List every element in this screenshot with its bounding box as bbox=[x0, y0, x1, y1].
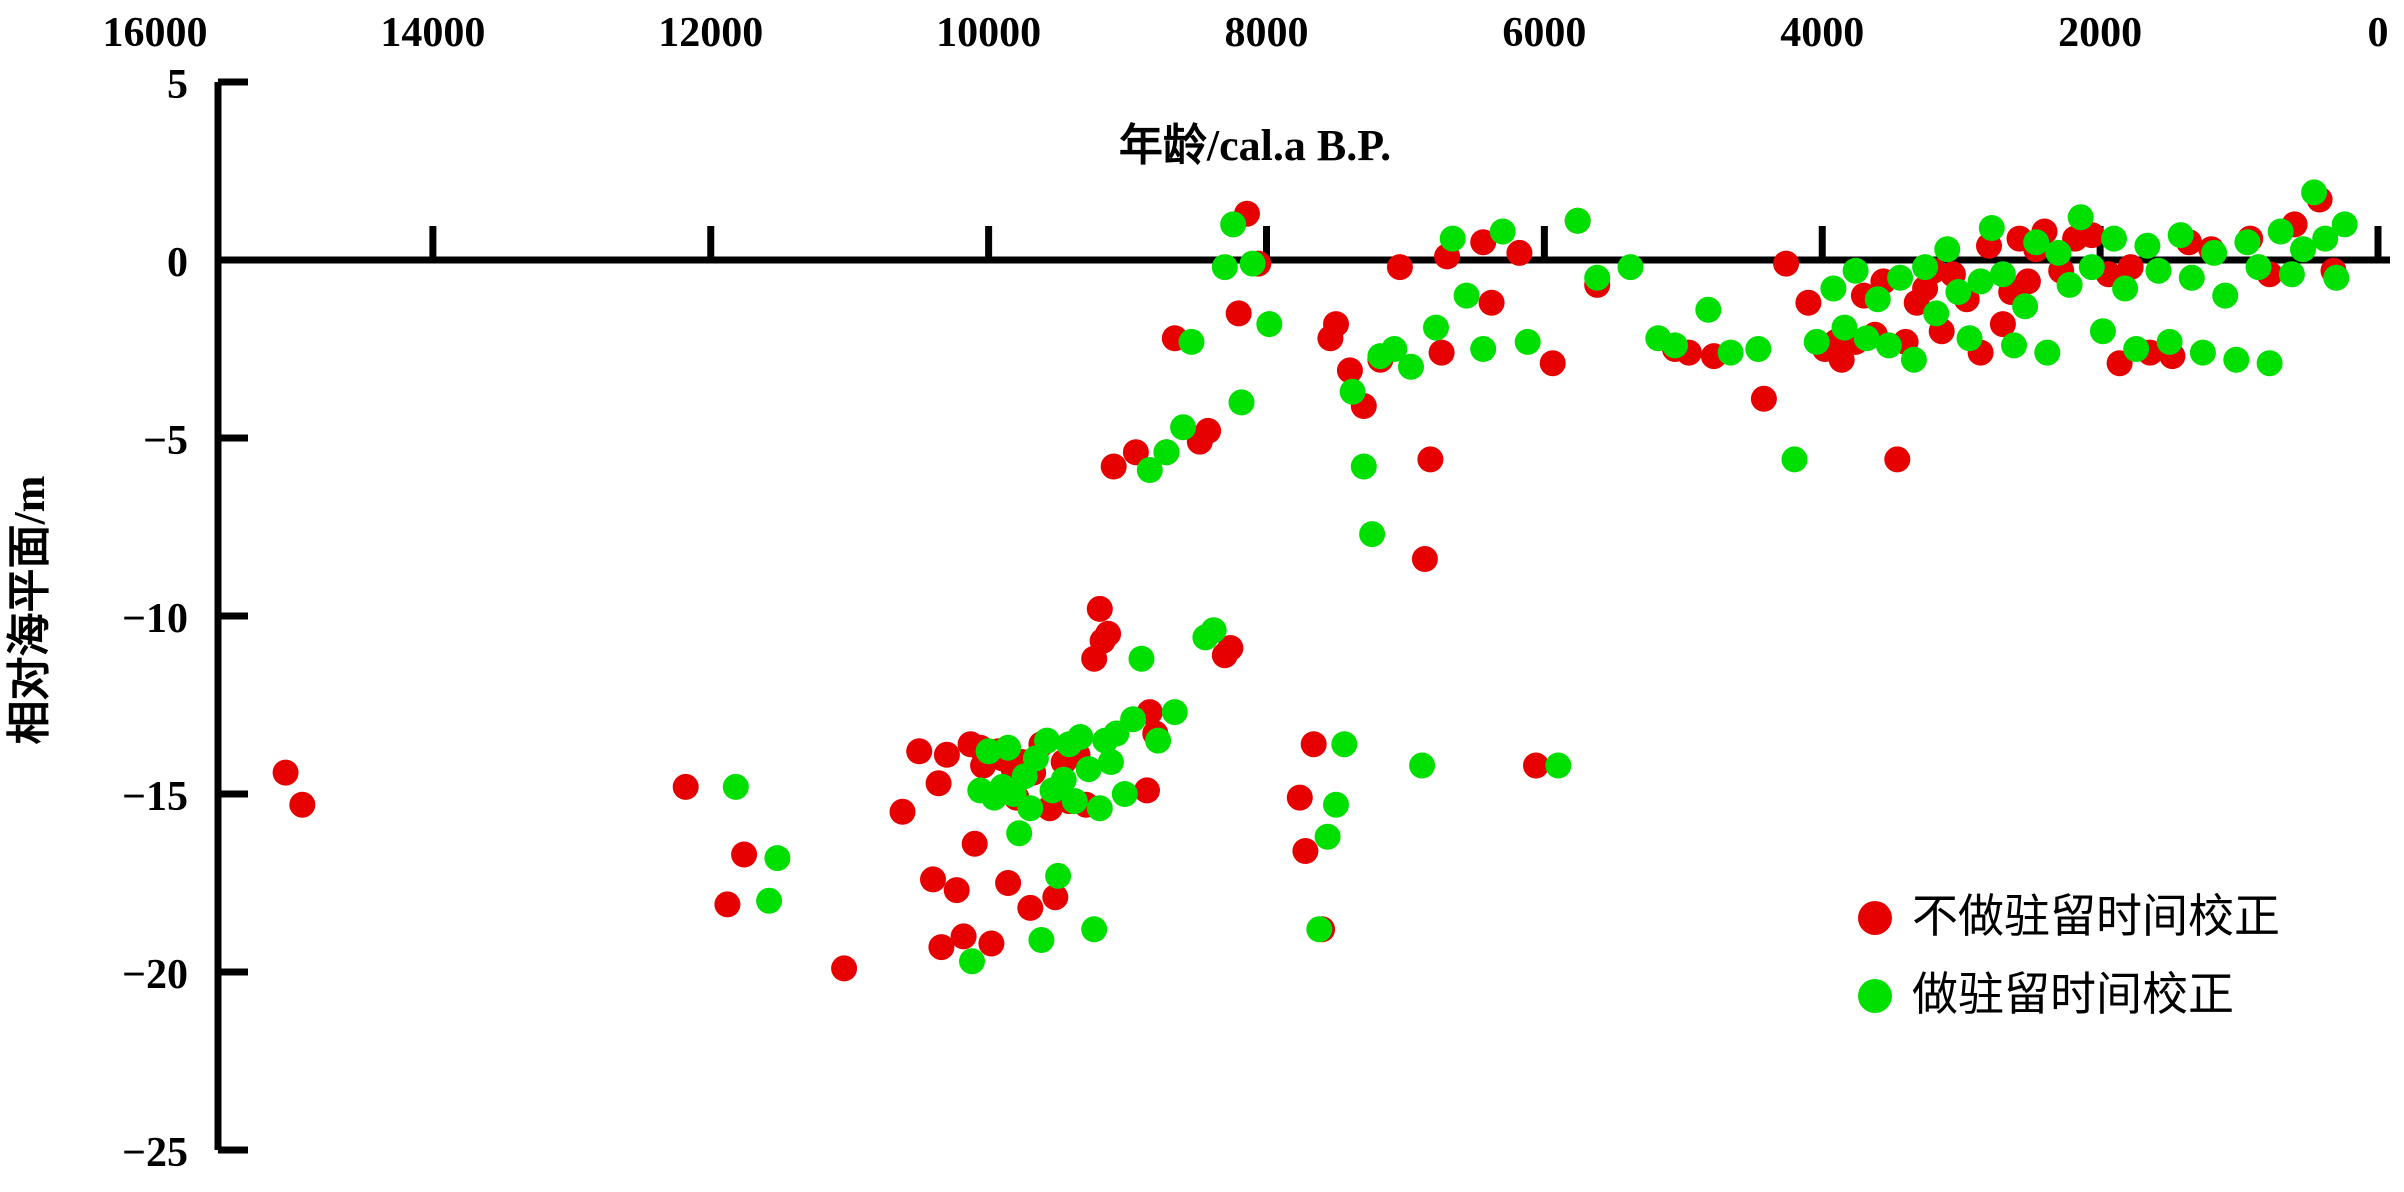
data-point bbox=[2023, 229, 2049, 255]
x-tick-label: 0 bbox=[2368, 10, 2389, 56]
data-point bbox=[731, 842, 757, 868]
chart-root: 1600014000120001000080006000400020000 50… bbox=[0, 0, 2404, 1192]
data-point bbox=[1076, 756, 1102, 782]
data-point bbox=[1887, 265, 1913, 291]
data-point bbox=[1292, 838, 1318, 864]
data-point bbox=[2290, 236, 2316, 262]
data-point bbox=[1120, 706, 1146, 732]
data-point bbox=[2223, 347, 2249, 373]
data-point bbox=[1470, 336, 1496, 362]
data-point bbox=[1843, 258, 1869, 284]
x-tick-label: 10000 bbox=[936, 10, 1041, 56]
data-point bbox=[1523, 753, 1549, 779]
data-point bbox=[2332, 211, 2358, 237]
data-point bbox=[1226, 300, 1252, 326]
y-tick-label: 0 bbox=[167, 240, 188, 286]
data-point bbox=[1901, 347, 1927, 373]
x-tick-label: 14000 bbox=[380, 10, 485, 56]
data-point bbox=[1081, 916, 1107, 942]
data-point bbox=[1006, 820, 1032, 846]
data-point bbox=[1212, 254, 1238, 280]
data-point bbox=[2157, 329, 2183, 355]
data-point bbox=[2179, 265, 2205, 291]
data-point bbox=[764, 845, 790, 871]
data-point bbox=[1490, 219, 1516, 245]
data-point bbox=[2101, 226, 2127, 252]
data-point bbox=[1256, 311, 1282, 337]
data-point bbox=[1417, 446, 1443, 472]
data-point bbox=[289, 792, 315, 818]
data-point bbox=[1979, 215, 2005, 241]
data-point bbox=[1101, 454, 1127, 480]
data-point bbox=[2268, 219, 2294, 245]
data-point bbox=[1301, 731, 1327, 757]
data-point bbox=[1359, 521, 1385, 547]
data-point bbox=[928, 934, 954, 960]
data-point bbox=[1795, 290, 1821, 316]
data-point bbox=[1884, 446, 1910, 472]
data-point bbox=[1618, 254, 1644, 280]
data-point bbox=[1479, 290, 1505, 316]
data-point bbox=[920, 866, 946, 892]
scatter-plot-canvas: 1600014000120001000080006000400020000 50… bbox=[0, 0, 2404, 1192]
data-point bbox=[273, 760, 299, 786]
data-point bbox=[1662, 332, 1688, 358]
data-point bbox=[1540, 350, 1566, 376]
data-point bbox=[831, 955, 857, 981]
x-axis-title: 年龄/cal.a B.P. bbox=[1119, 121, 1391, 170]
data-point bbox=[2257, 350, 2283, 376]
data-point bbox=[1751, 386, 1777, 412]
data-point bbox=[906, 738, 932, 764]
data-point bbox=[2057, 272, 2083, 298]
data-point bbox=[2212, 283, 2238, 309]
data-point bbox=[1162, 699, 1188, 725]
data-point bbox=[978, 931, 1004, 957]
data-point bbox=[1934, 236, 1960, 262]
data-point bbox=[1773, 251, 1799, 277]
data-point bbox=[1331, 731, 1357, 757]
data-point bbox=[1990, 261, 2016, 287]
data-point bbox=[1515, 329, 1541, 355]
data-point bbox=[1129, 646, 1155, 672]
x-tick-label: 12000 bbox=[658, 10, 763, 56]
data-point bbox=[2279, 261, 2305, 287]
data-point bbox=[1095, 621, 1121, 647]
data-point bbox=[2068, 204, 2094, 230]
data-point bbox=[1506, 240, 1532, 266]
data-point bbox=[1067, 724, 1093, 750]
x-tick-label: 16000 bbox=[103, 10, 208, 56]
data-point bbox=[2012, 293, 2038, 319]
legend-marker-1 bbox=[1858, 901, 1892, 935]
data-point bbox=[1832, 315, 1858, 341]
data-point bbox=[1201, 617, 1227, 643]
series-2-points bbox=[723, 179, 2358, 974]
data-point bbox=[1695, 297, 1721, 323]
data-point bbox=[2123, 336, 2149, 362]
data-point bbox=[1854, 325, 1880, 351]
data-point bbox=[1440, 226, 1466, 252]
y-tick-label: −20 bbox=[122, 952, 188, 998]
data-point bbox=[1782, 446, 1808, 472]
data-point bbox=[2034, 340, 2060, 366]
data-point bbox=[1865, 286, 1891, 312]
data-point bbox=[1387, 254, 1413, 280]
data-point bbox=[1087, 596, 1113, 622]
data-point bbox=[1179, 329, 1205, 355]
data-point bbox=[1145, 728, 1171, 754]
data-point bbox=[995, 735, 1021, 761]
data-point bbox=[2134, 233, 2160, 259]
data-point bbox=[1718, 340, 1744, 366]
y-tick-label: −10 bbox=[122, 596, 188, 642]
legend-marker-2 bbox=[1858, 979, 1892, 1013]
data-point bbox=[1409, 753, 1435, 779]
data-point bbox=[756, 888, 782, 914]
data-point bbox=[1170, 414, 1196, 440]
data-point bbox=[926, 770, 952, 796]
data-point bbox=[1820, 276, 1846, 302]
data-point bbox=[1545, 753, 1571, 779]
data-point bbox=[1912, 254, 1938, 280]
data-point bbox=[1034, 728, 1060, 754]
data-point bbox=[2201, 240, 2227, 266]
data-point bbox=[1340, 379, 1366, 405]
data-point bbox=[2090, 318, 2116, 344]
y-tick-label: −15 bbox=[122, 774, 188, 820]
data-point bbox=[1087, 795, 1113, 821]
data-point bbox=[1306, 916, 1332, 942]
x-tick-label: 8000 bbox=[1225, 10, 1309, 56]
y-tick-label: −5 bbox=[143, 418, 188, 464]
legend-label-2: 做驻留时间校正 bbox=[1912, 968, 2234, 1020]
data-point bbox=[673, 774, 699, 800]
data-point bbox=[1195, 418, 1221, 444]
data-point bbox=[1287, 785, 1313, 811]
data-point bbox=[1098, 749, 1124, 775]
data-point bbox=[2168, 222, 2194, 248]
data-point bbox=[1229, 389, 1255, 415]
data-point bbox=[1429, 340, 1455, 366]
data-point bbox=[1017, 795, 1043, 821]
data-point bbox=[1923, 300, 1949, 326]
legend-label-1: 不做驻留时间校正 bbox=[1912, 890, 2280, 942]
data-point bbox=[959, 948, 985, 974]
data-point bbox=[2045, 240, 2071, 266]
x-axis-tick-labels: 1600014000120001000080006000400020000 bbox=[103, 10, 2389, 56]
data-point bbox=[2015, 268, 2041, 294]
data-point bbox=[1315, 824, 1341, 850]
data-point bbox=[1323, 311, 1349, 337]
data-point bbox=[1351, 454, 1377, 480]
data-point bbox=[2112, 276, 2138, 302]
data-point bbox=[1745, 336, 1771, 362]
data-point bbox=[1423, 315, 1449, 341]
data-point bbox=[890, 799, 916, 825]
data-point bbox=[2079, 254, 2105, 280]
data-point bbox=[995, 870, 1021, 896]
data-point bbox=[1323, 792, 1349, 818]
data-point bbox=[1584, 265, 1610, 291]
data-point bbox=[1062, 788, 1088, 814]
x-tick-label: 6000 bbox=[1502, 10, 1586, 56]
x-tick-label: 2000 bbox=[2058, 10, 2142, 56]
y-tick-label: −25 bbox=[122, 1130, 188, 1176]
y-axis-tick-labels: 50−5−10−15−20−25 bbox=[122, 62, 188, 1176]
data-point bbox=[2190, 340, 2216, 366]
data-point bbox=[1028, 927, 1054, 953]
data-point bbox=[1957, 325, 1983, 351]
data-point bbox=[2246, 254, 2272, 280]
data-point bbox=[1804, 329, 1830, 355]
data-point bbox=[1454, 283, 1480, 309]
data-point bbox=[714, 891, 740, 917]
legend: 不做驻留时间校正做驻留时间校正 bbox=[1858, 890, 2280, 1020]
data-point bbox=[1220, 211, 1246, 237]
data-point bbox=[2323, 265, 2349, 291]
data-point bbox=[1876, 332, 1902, 358]
y-tick-label: 5 bbox=[167, 62, 188, 108]
data-point bbox=[1398, 354, 1424, 380]
data-point bbox=[1412, 546, 1438, 572]
data-point bbox=[723, 774, 749, 800]
data-point bbox=[1565, 208, 1591, 234]
data-point bbox=[944, 877, 970, 903]
data-point bbox=[1945, 279, 1971, 305]
data-point bbox=[2001, 332, 2027, 358]
data-point bbox=[951, 923, 977, 949]
data-point bbox=[962, 831, 988, 857]
data-point bbox=[1017, 895, 1043, 921]
data-point bbox=[1045, 863, 1071, 889]
data-point bbox=[934, 742, 960, 768]
data-point bbox=[1240, 251, 1266, 277]
data-point bbox=[2234, 229, 2260, 255]
data-point bbox=[2146, 258, 2172, 284]
data-point bbox=[1968, 268, 1994, 294]
x-tick-label: 4000 bbox=[1780, 10, 1864, 56]
data-point bbox=[2301, 179, 2327, 205]
data-point bbox=[1134, 777, 1160, 803]
data-point bbox=[1154, 439, 1180, 465]
y-axis-title: 相对海平面/m bbox=[5, 476, 54, 745]
data-point bbox=[1112, 781, 1138, 807]
